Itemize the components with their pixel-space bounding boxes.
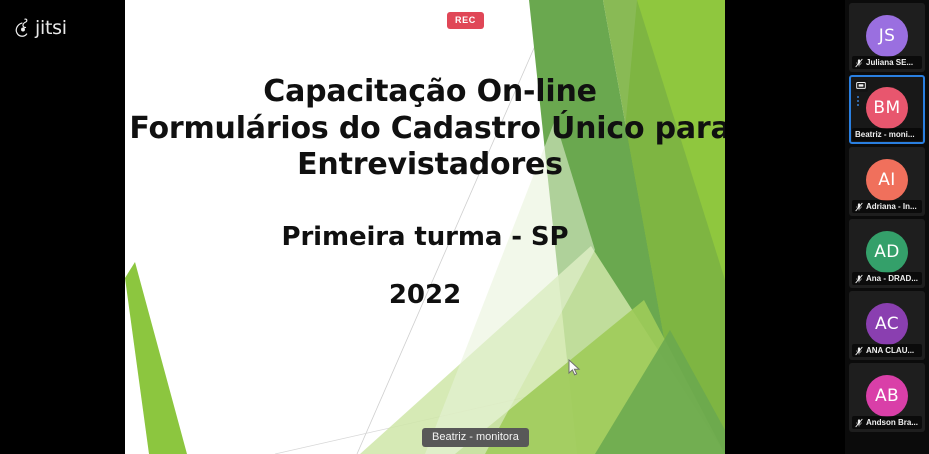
slide-year: 2022 <box>125 280 725 310</box>
participant-tile[interactable]: AC ANA CLAU... <box>849 291 925 360</box>
slide-subtitle: Primeira turma - SP <box>125 222 725 252</box>
avatar: JS <box>866 15 908 57</box>
participant-tile[interactable]: AD Ana - DRAD... <box>849 219 925 288</box>
mic-off-icon <box>855 58 863 68</box>
participant-tile[interactable]: JS Juliana SE... <box>849 3 925 72</box>
kebab-menu-icon[interactable] <box>857 96 859 106</box>
participant-name: Juliana SE... <box>866 57 913 68</box>
recording-indicator: REC <box>447 12 484 29</box>
screen-share-icon <box>854 80 868 92</box>
participant-name: Ana - DRAD... <box>866 273 918 284</box>
participant-footer: Beatriz - moni... <box>852 128 922 141</box>
participant-tile[interactable]: BM Beatriz - moni... <box>849 75 925 144</box>
jitsi-wordmark: jitsi <box>35 19 67 38</box>
avatar: AD <box>866 231 908 273</box>
presenter-name-pill: Beatriz - monitora <box>422 428 529 447</box>
participant-footer: Ana - DRAD... <box>852 272 922 285</box>
participants-filmstrip[interactable]: JS Juliana SE... <box>845 0 929 454</box>
jitsi-logo-icon <box>14 17 32 39</box>
participant-name: ANA CLAU... <box>866 345 914 356</box>
participant-tile[interactable]: AB Andson Bra... <box>849 363 925 432</box>
avatar: AC <box>866 303 908 345</box>
avatar: AB <box>866 375 908 417</box>
participant-footer: Andson Bra... <box>852 416 922 429</box>
participant-footer: Adriana - In... <box>852 200 922 213</box>
slide-title-line-1: Capacitação On-line <box>125 74 725 111</box>
mic-off-icon <box>855 418 863 428</box>
avatar: BM <box>866 87 908 129</box>
slide-title-line-3: Entrevistadores <box>125 147 725 184</box>
participant-tile[interactable]: AI Adriana - In... <box>849 147 925 216</box>
meeting-stage: jitsi <box>0 0 929 454</box>
participant-name: Andson Bra... <box>866 417 918 428</box>
slide-title: Capacitação On-line Formulários do Cadas… <box>125 74 725 184</box>
mic-off-icon <box>855 202 863 212</box>
participant-name: Beatriz - moni... <box>855 129 915 140</box>
participant-footer: Juliana SE... <box>852 56 922 69</box>
mic-off-icon <box>855 274 863 284</box>
shared-screen-video[interactable]: Capacitação On-line Formulários do Cadas… <box>125 0 725 454</box>
mic-off-icon <box>855 346 863 356</box>
jitsi-watermark[interactable]: jitsi <box>14 17 67 39</box>
participant-name: Adriana - In... <box>866 201 917 212</box>
mouse-pointer-icon <box>568 359 581 377</box>
participant-footer: ANA CLAU... <box>852 344 922 357</box>
avatar: AI <box>866 159 908 201</box>
slide-title-line-2: Formulários do Cadastro Único para <box>125 111 725 148</box>
